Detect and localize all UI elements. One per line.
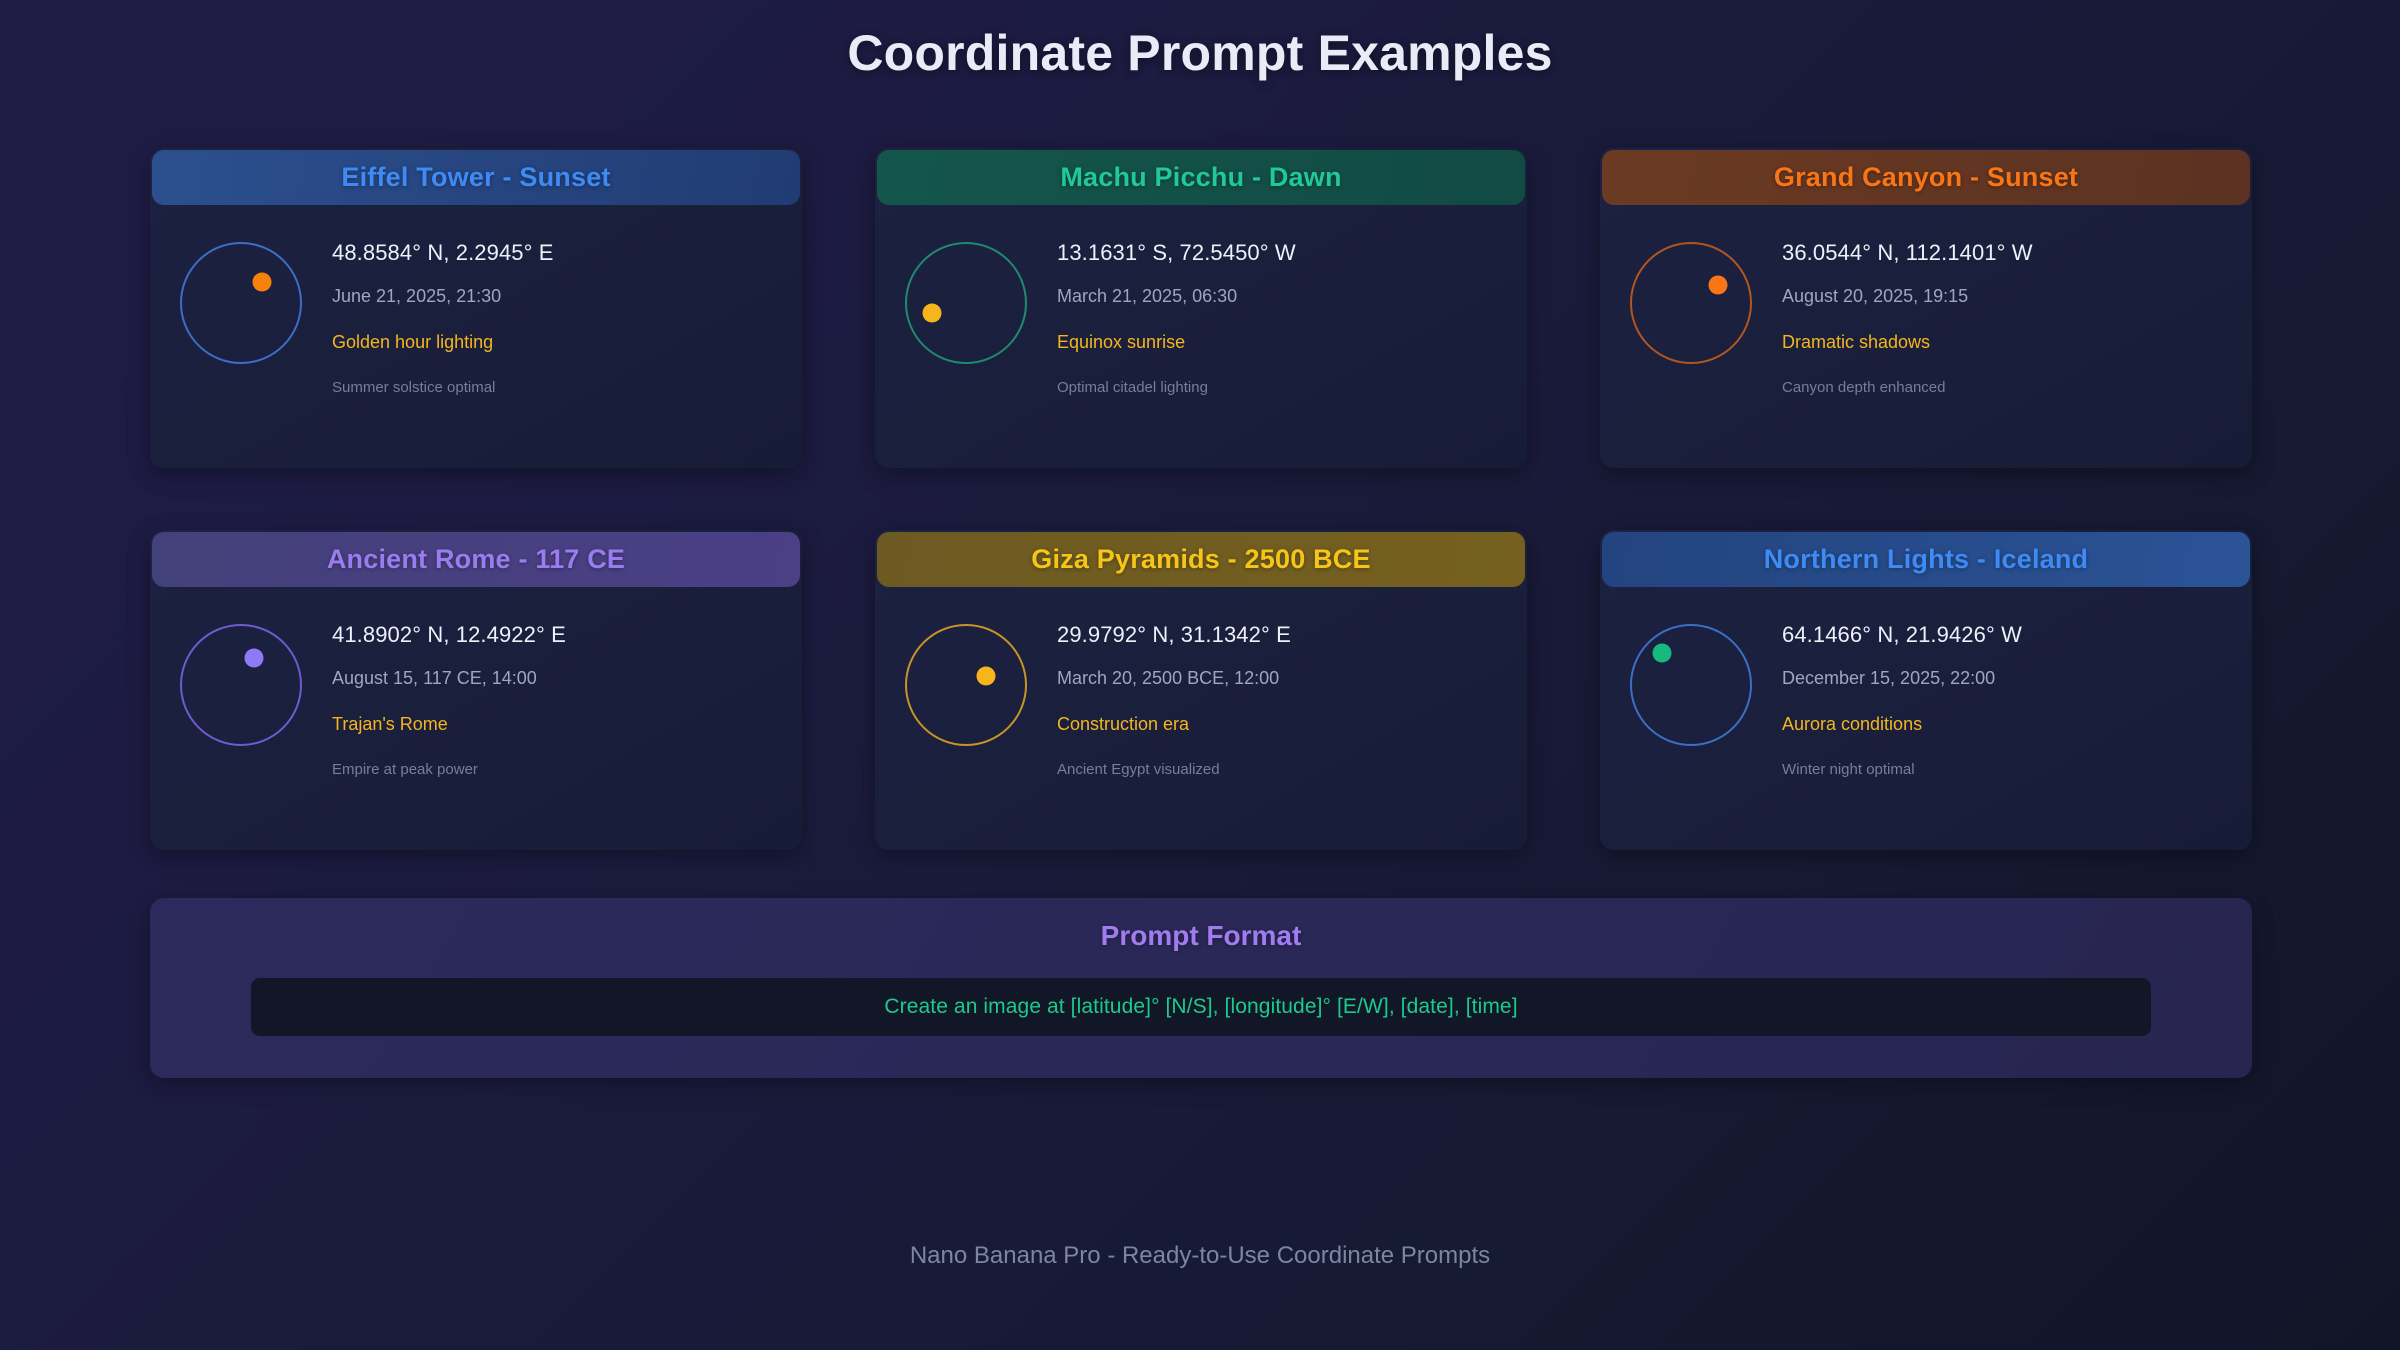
note-text: Winter night optimal — [1782, 761, 2022, 778]
card-body: 48.8584° N, 2.2945° EJune 21, 2025, 21:3… — [150, 205, 802, 396]
coordinate-card[interactable]: Northern Lights - Iceland64.1466° N, 21.… — [1600, 530, 2252, 850]
prompt-format-title: Prompt Format — [150, 920, 2252, 952]
card-header: Eiffel Tower - Sunset — [152, 150, 800, 205]
horizon-ring-icon — [1630, 624, 1752, 746]
condition-text: Dramatic shadows — [1782, 332, 2033, 353]
sun-dot-icon — [922, 303, 941, 322]
condition-text: Trajan's Rome — [332, 714, 566, 735]
card-info: 64.1466° N, 21.9426° WDecember 15, 2025,… — [1782, 620, 2022, 778]
horizon-ring-icon — [905, 624, 1027, 746]
prompt-format-template: Create an image at [latitude]° [N/S], [l… — [884, 995, 1517, 1019]
sun-dot-icon — [252, 273, 271, 292]
card-header: Machu Picchu - Dawn — [877, 150, 1525, 205]
horizon-ring-icon — [1630, 242, 1752, 364]
card-header: Ancient Rome - 117 CE — [152, 532, 800, 587]
card-header: Northern Lights - Iceland — [1602, 532, 2250, 587]
card-title: Machu Picchu - Dawn — [1060, 162, 1341, 193]
card-header: Giza Pyramids - 2500 BCE — [877, 532, 1525, 587]
coordinates-text: 41.8902° N, 12.4922° E — [332, 622, 566, 648]
horizon-ring-icon — [180, 242, 302, 364]
datetime-text: August 15, 117 CE, 14:00 — [332, 668, 566, 689]
coordinate-card-grid: Eiffel Tower - Sunset48.8584° N, 2.2945°… — [150, 148, 2252, 850]
sun-position-dial — [1630, 242, 1752, 364]
coordinate-card[interactable]: Eiffel Tower - Sunset48.8584° N, 2.2945°… — [150, 148, 802, 468]
card-body: 64.1466° N, 21.9426° WDecember 15, 2025,… — [1600, 587, 2252, 778]
sun-position-dial — [180, 242, 302, 364]
coordinate-card[interactable]: Giza Pyramids - 2500 BCE29.9792° N, 31.1… — [875, 530, 1527, 850]
datetime-text: March 20, 2500 BCE, 12:00 — [1057, 668, 1291, 689]
sun-position-dial — [1630, 624, 1752, 746]
horizon-ring-icon — [180, 624, 302, 746]
card-info: 36.0544° N, 112.1401° WAugust 20, 2025, … — [1782, 238, 2033, 396]
card-title: Ancient Rome - 117 CE — [327, 544, 625, 575]
coordinate-card[interactable]: Ancient Rome - 117 CE41.8902° N, 12.4922… — [150, 530, 802, 850]
coordinates-text: 48.8584° N, 2.2945° E — [332, 240, 554, 266]
card-body: 36.0544° N, 112.1401° WAugust 20, 2025, … — [1600, 205, 2252, 396]
coordinates-text: 13.1631° S, 72.5450° W — [1057, 240, 1296, 266]
sun-position-dial — [180, 624, 302, 746]
coordinates-text: 64.1466° N, 21.9426° W — [1782, 622, 2022, 648]
page-root: Coordinate Prompt Examples Eiffel Tower … — [0, 0, 2400, 1350]
card-body: 29.9792° N, 31.1342° EMarch 20, 2500 BCE… — [875, 587, 1527, 778]
sun-position-dial-wrap — [875, 238, 1057, 364]
prompt-format-panel: Prompt Format Create an image at [latitu… — [150, 898, 2252, 1078]
coordinates-text: 36.0544° N, 112.1401° W — [1782, 240, 2033, 266]
sun-position-dial — [905, 624, 1027, 746]
prompt-format-box[interactable]: Create an image at [latitude]° [N/S], [l… — [251, 978, 2151, 1036]
condition-text: Construction era — [1057, 714, 1291, 735]
sun-position-dial-wrap — [150, 620, 332, 746]
note-text: Ancient Egypt visualized — [1057, 761, 1291, 778]
card-body: 41.8902° N, 12.4922° EAugust 15, 117 CE,… — [150, 587, 802, 778]
sun-dot-icon — [1708, 275, 1727, 294]
sun-position-dial — [905, 242, 1027, 364]
sun-position-dial-wrap — [875, 620, 1057, 746]
datetime-text: December 15, 2025, 22:00 — [1782, 668, 2022, 689]
coordinate-card[interactable]: Machu Picchu - Dawn13.1631° S, 72.5450° … — [875, 148, 1527, 468]
horizon-ring-icon — [905, 242, 1027, 364]
sun-dot-icon — [245, 649, 264, 668]
datetime-text: March 21, 2025, 06:30 — [1057, 286, 1296, 307]
card-title: Giza Pyramids - 2500 BCE — [1031, 544, 1370, 575]
card-info: 41.8902° N, 12.4922° EAugust 15, 117 CE,… — [332, 620, 566, 778]
card-body: 13.1631° S, 72.5450° WMarch 21, 2025, 06… — [875, 205, 1527, 396]
note-text: Canyon depth enhanced — [1782, 379, 2033, 396]
datetime-text: June 21, 2025, 21:30 — [332, 286, 554, 307]
condition-text: Equinox sunrise — [1057, 332, 1296, 353]
note-text: Optimal citadel lighting — [1057, 379, 1296, 396]
page-title: Coordinate Prompt Examples — [0, 0, 2400, 82]
sun-position-dial-wrap — [1600, 238, 1782, 364]
sun-dot-icon — [976, 667, 995, 686]
card-header: Grand Canyon - Sunset — [1602, 150, 2250, 205]
sun-position-dial-wrap — [1600, 620, 1782, 746]
card-title: Northern Lights - Iceland — [1764, 544, 2089, 575]
condition-text: Aurora conditions — [1782, 714, 2022, 735]
card-title: Eiffel Tower - Sunset — [341, 162, 610, 193]
sun-position-dial-wrap — [150, 238, 332, 364]
sun-dot-icon — [1652, 644, 1671, 663]
note-text: Summer solstice optimal — [332, 379, 554, 396]
footer-text: Nano Banana Pro - Ready-to-Use Coordinat… — [0, 1242, 2400, 1270]
card-title: Grand Canyon - Sunset — [1774, 162, 2078, 193]
note-text: Empire at peak power — [332, 761, 566, 778]
condition-text: Golden hour lighting — [332, 332, 554, 353]
card-info: 48.8584° N, 2.2945° EJune 21, 2025, 21:3… — [332, 238, 554, 396]
card-info: 13.1631° S, 72.5450° WMarch 21, 2025, 06… — [1057, 238, 1296, 396]
coordinates-text: 29.9792° N, 31.1342° E — [1057, 622, 1291, 648]
card-info: 29.9792° N, 31.1342° EMarch 20, 2500 BCE… — [1057, 620, 1291, 778]
coordinate-card[interactable]: Grand Canyon - Sunset36.0544° N, 112.140… — [1600, 148, 2252, 468]
datetime-text: August 20, 2025, 19:15 — [1782, 286, 2033, 307]
